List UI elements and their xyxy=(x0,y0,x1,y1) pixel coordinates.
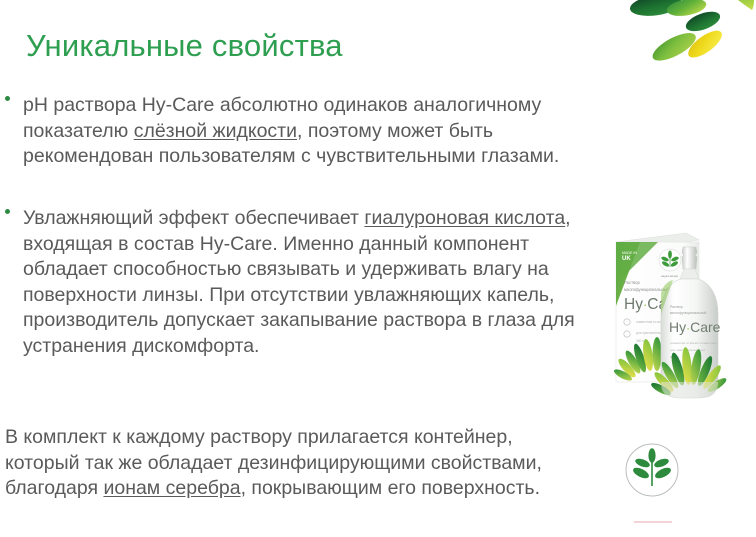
slide-title: Уникальные свойства xyxy=(26,28,343,64)
bullet-marker-1 xyxy=(5,96,10,101)
plant-sprig-icon xyxy=(624,442,680,498)
svg-text:многофункциональный: многофункциональный xyxy=(670,311,706,315)
svg-text:UK: UK xyxy=(622,256,631,262)
para1-seg-1-underlined: слёзной жидкости xyxy=(134,120,297,142)
svg-text:совместим со всеми типами линз: совместим со всеми типами линз xyxy=(670,341,717,345)
bottle-brand-name: Hy·Care xyxy=(669,319,721,335)
paragraph-3: В комплект к каждому раствору прилагаетс… xyxy=(5,425,585,502)
bullet-paragraph-2: Увлажняющий эффект обеспечивает гиалурон… xyxy=(23,206,583,360)
para2-seg-1-underlined: гиалуроновая кислота xyxy=(364,207,565,229)
leaf-fan-icon xyxy=(556,0,756,200)
slide-canvas: Уникальные свойства pH раствора Hy-Care … xyxy=(0,0,756,537)
svg-text:Раствор: Раствор xyxy=(670,305,683,309)
para3-seg-2: , покрывающим его поверхность. xyxy=(241,477,540,499)
para2-seg-0: Увлажняющий эффект обеспечивает xyxy=(23,207,364,229)
para2-seg-2: , входящая в состав Hy-Care. Именно данн… xyxy=(23,207,575,357)
bullet-marker-2 xyxy=(5,209,10,214)
leaf-fan-decoration xyxy=(556,0,756,200)
bullet-paragraph-1: pH раствора Hy-Care абсолютно одинаков а… xyxy=(23,93,583,170)
box-caption-1: Раствор xyxy=(624,280,641,285)
pink-divider-rule xyxy=(634,521,672,523)
svg-text:MADE IN: MADE IN xyxy=(622,251,637,255)
svg-text:наука жизни: наука жизни xyxy=(661,274,678,278)
plant-sprig-logo xyxy=(624,442,680,498)
para3-seg-1-underlined: ионам серебра xyxy=(103,477,240,499)
box-leaf-emblem: наука жизни xyxy=(659,249,681,278)
hy-care-product-photo: MADE IN UK наука жизни xyxy=(600,222,756,410)
